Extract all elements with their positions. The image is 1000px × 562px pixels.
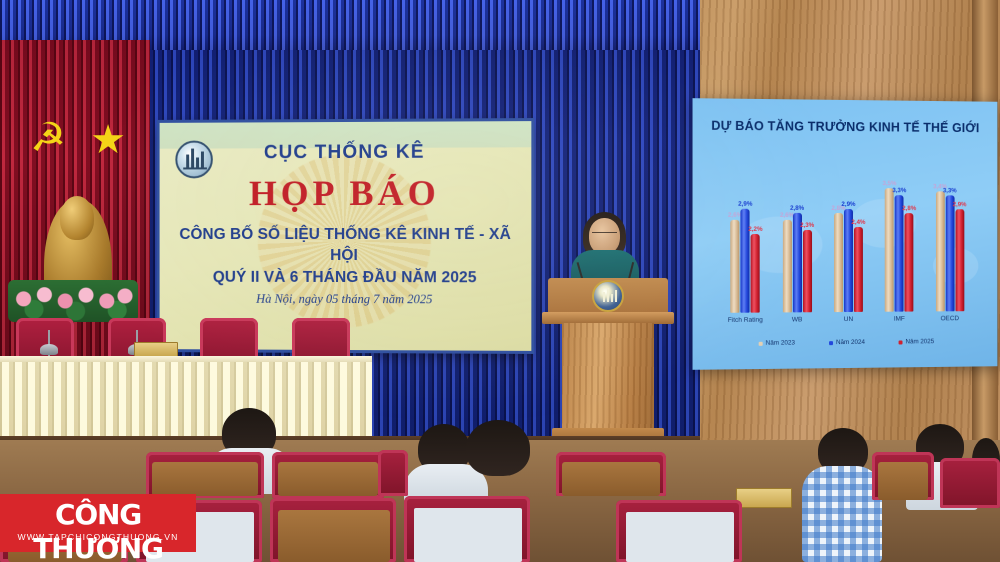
chart-bar: 3,5% xyxy=(885,188,894,312)
chart-bar: 3,3% xyxy=(945,195,954,311)
audience-seat-back-2 xyxy=(278,462,378,496)
chart-bar: 2,8% xyxy=(905,213,914,312)
legend-swatch-icon xyxy=(829,341,833,345)
audience-seat-3 xyxy=(378,450,408,496)
chart-category-label: OECD xyxy=(926,315,974,322)
bar-chart-plot: 2,6%2,9%2,2%Fitch Rating2,6%2,8%2,3%WB2,… xyxy=(715,169,990,313)
chart-legend-item: Năm 2023 xyxy=(759,339,795,346)
chart-bar: 2,8% xyxy=(834,213,843,313)
chart-bar-label: 3,3% xyxy=(892,187,906,194)
speaker-glasses xyxy=(592,232,617,240)
statistics-office-emblem-icon xyxy=(592,280,624,312)
watermark-brand: CÔNG THƯƠNG xyxy=(7,498,189,562)
chart-group: 3,5%3,3%2,8%IMF xyxy=(875,170,923,312)
chart-bars: 3,5%3,3%2,8% xyxy=(875,170,923,312)
chart-title: DỰ BÁO TĂNG TRƯỞNG KINH TẾ THẾ GIỚI xyxy=(693,118,998,135)
banner-subtitle: CÔNG BỐ SỐ LIỆU THỐNG KÊ KINH TẾ - XÃ HỘ… xyxy=(166,224,526,289)
banner-department: CỤC THỐNG KÊ xyxy=(160,141,532,164)
event-banner: CỤC THỐNG KÊ HỌP BÁO CÔNG BỐ SỐ LIỆU THỐ… xyxy=(160,121,532,351)
legend-swatch-icon xyxy=(759,341,763,345)
hammer-sickle-icon: ☭ xyxy=(26,118,70,158)
chart-group: 3,4%3,3%2,9%OECD xyxy=(926,170,974,311)
chart-bar-label: 2,8% xyxy=(902,205,916,212)
audience-seat-back-9 xyxy=(878,462,928,500)
chart-category-label: Fitch Rating xyxy=(721,317,770,324)
chart-bar-label: 2,9% xyxy=(953,201,967,208)
chart-group: 2,8%2,9%2,4%UN xyxy=(824,170,872,312)
chart-bar-label: 3,5% xyxy=(882,180,896,187)
audience-seat-10 xyxy=(940,458,1000,508)
chart-bar-label: 2,2% xyxy=(748,226,762,233)
chart-bar-label: 2,8% xyxy=(790,204,804,211)
gold-star-icon: ★ xyxy=(88,120,128,160)
banner-headline: HỌP BÁO xyxy=(160,171,532,214)
table-nameplate xyxy=(134,342,178,357)
chart-category-label: UN xyxy=(824,316,872,323)
legend-label: Năm 2024 xyxy=(836,339,865,346)
legend-swatch-icon xyxy=(899,340,903,344)
chart-bar: 3,3% xyxy=(895,195,904,312)
chart-bar: 2,4% xyxy=(854,227,863,312)
chart-bar: 2,9% xyxy=(741,209,750,313)
legend-label: Năm 2023 xyxy=(766,339,795,346)
chart-bar: 2,6% xyxy=(731,220,740,313)
audience-seat-panel-11 xyxy=(626,512,734,562)
chart-bar-label: 2,9% xyxy=(841,201,855,208)
audience-seat-back-1 xyxy=(152,462,258,496)
chart-group: 2,6%2,8%2,3%WB xyxy=(773,170,822,313)
chart-legend-item: Năm 2025 xyxy=(899,338,934,345)
podium-body xyxy=(562,323,654,428)
audience-seat-back-6 xyxy=(278,510,390,562)
chart-bar-label: 2,4% xyxy=(851,219,865,226)
chart-bar-label: 3,3% xyxy=(943,187,957,194)
chart-category-label: IMF xyxy=(875,315,923,322)
audience-seat-panel-7 xyxy=(414,508,522,562)
chart-bar: 2,3% xyxy=(803,230,812,312)
chart-bars: 2,6%2,8%2,3% xyxy=(773,170,822,313)
chart-bar: 2,2% xyxy=(751,234,760,313)
presentation-slide: DỰ BÁO TĂNG TRƯỞNG KINH TẾ THẾ GIỚI 2,6%… xyxy=(693,98,998,370)
chart-category-label: WB xyxy=(773,316,822,323)
chart-bars: 2,8%2,9%2,4% xyxy=(824,170,872,312)
chart-legend-item: Năm 2024 xyxy=(829,339,865,346)
audience-head-3 xyxy=(466,420,530,476)
legend-label: Năm 2025 xyxy=(906,338,935,345)
bust-head xyxy=(60,196,94,240)
chart-group: 2,6%2,9%2,2%Fitch Rating xyxy=(721,169,770,313)
chart-bar-label: 2,3% xyxy=(800,222,814,229)
podium-top xyxy=(548,278,668,316)
chart-bars: 2,6%2,9%2,2% xyxy=(721,169,770,313)
audience-torso-4 xyxy=(802,466,882,562)
watermark-badge: CÔNG THƯƠNG WWW.TAPCHICONGTHUONG.VN xyxy=(0,494,196,552)
screenshot-root: ☭ ★ CỤC THỐNG KÊ HỌP BÁO CÔNG BỐ SỐ LIỆU… xyxy=(0,0,1000,562)
desk-nameplate xyxy=(736,488,792,508)
chart-bar: 2,6% xyxy=(783,220,792,313)
chart-bar: 3,4% xyxy=(936,192,945,312)
chart-legend: Năm 2023Năm 2024Năm 2025 xyxy=(693,338,998,348)
chart-bars: 3,4%3,3%2,9% xyxy=(926,170,974,311)
banner-date: Hà Nội, ngày 05 tháng 7 năm 2025 xyxy=(160,292,532,308)
chart-bar: 2,9% xyxy=(955,209,964,311)
watermark-url: WWW.TAPCHICONGTHUONG.VN xyxy=(0,532,196,542)
audience-seat-back-8 xyxy=(562,462,660,496)
chart-bar-label: 2,9% xyxy=(738,201,752,208)
banner-subtitle-line1: CÔNG BỐ SỐ LIỆU THỐNG KÊ KINH TẾ - XÃ HỘ… xyxy=(166,224,526,267)
banner-subtitle-line2: QUÝ II VÀ 6 THÁNG ĐẦU NĂM 2025 xyxy=(166,267,526,289)
flower-arrangement xyxy=(8,280,138,322)
table-mic-base-1 xyxy=(40,344,58,355)
